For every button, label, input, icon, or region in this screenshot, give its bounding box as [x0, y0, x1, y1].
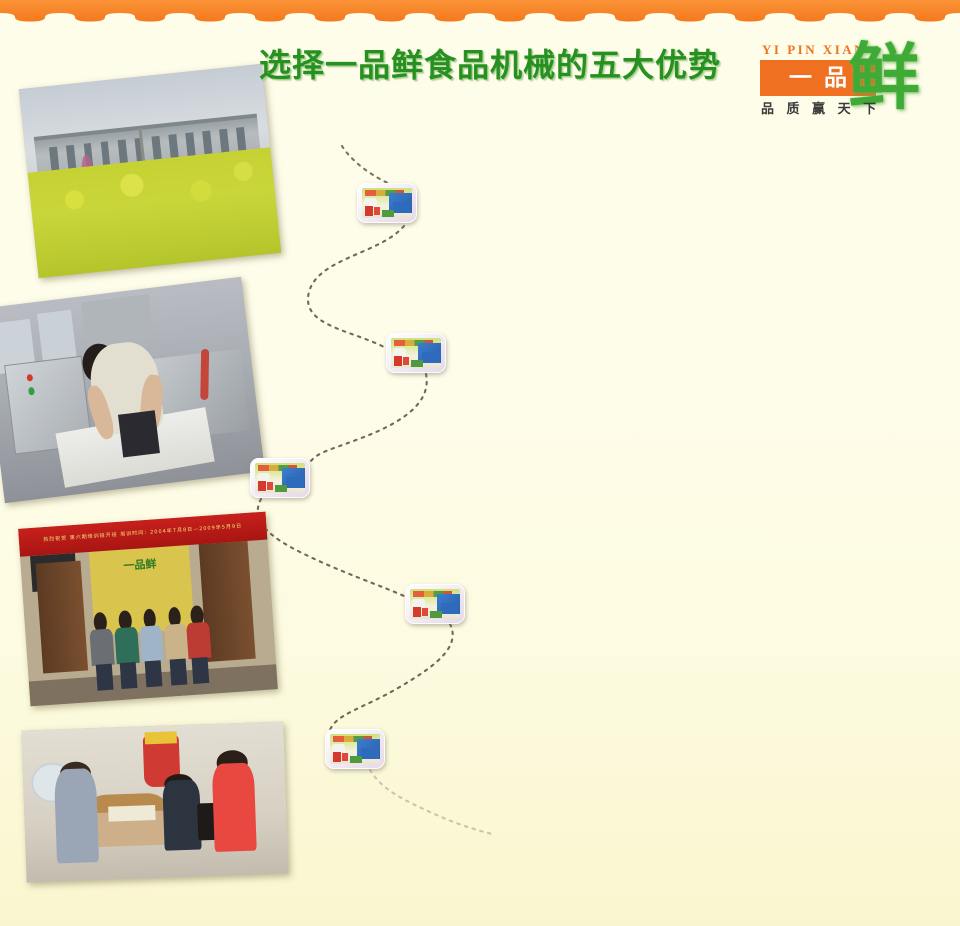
advantage-thumb-4-image [410, 589, 460, 619]
photo-worker-machine[interactable] [0, 277, 265, 503]
advantage-thumb-2-image [391, 338, 441, 368]
scalloped-orange-band [0, 0, 960, 26]
advantage-thumb-3[interactable] [250, 458, 310, 498]
photo-signing-contract-content [21, 721, 288, 882]
photo-factory-rapeseed[interactable] [19, 64, 282, 278]
advantage-thumb-1-image [362, 188, 412, 218]
page-root: 选择一品鲜食品机械的五大优势 YI PIN XIAN 一品 鲜 品 质 赢 天 … [0, 0, 960, 926]
advantage-thumb-5[interactable] [325, 729, 385, 769]
advantage-thumb-5-image [330, 734, 380, 764]
advantage-thumb-2[interactable] [386, 333, 446, 373]
logo-slogan: 品 质 赢 天 下 [761, 98, 880, 117]
photo-group-training-content: 一品鲜 热烈祝贺 第六期培训班开班 培训时间：2004年7月8日—2009年5月… [18, 512, 278, 707]
brand-logo[interactable]: YI PIN XIAN 一品 鲜 品 质 赢 天 下 [754, 36, 940, 122]
photo-factory-rapeseed-content [19, 64, 282, 278]
photo-worker-machine-content [0, 277, 265, 503]
photo-signing-contract[interactable] [21, 721, 288, 882]
advantage-thumb-4[interactable] [405, 584, 465, 624]
photo-group-training[interactable]: 一品鲜 热烈祝贺 第六期培训班开班 培训时间：2004年7月8日—2009年5月… [18, 512, 278, 707]
advantage-thumb-3-image [255, 463, 305, 493]
advantage-thumb-1[interactable] [357, 183, 417, 223]
